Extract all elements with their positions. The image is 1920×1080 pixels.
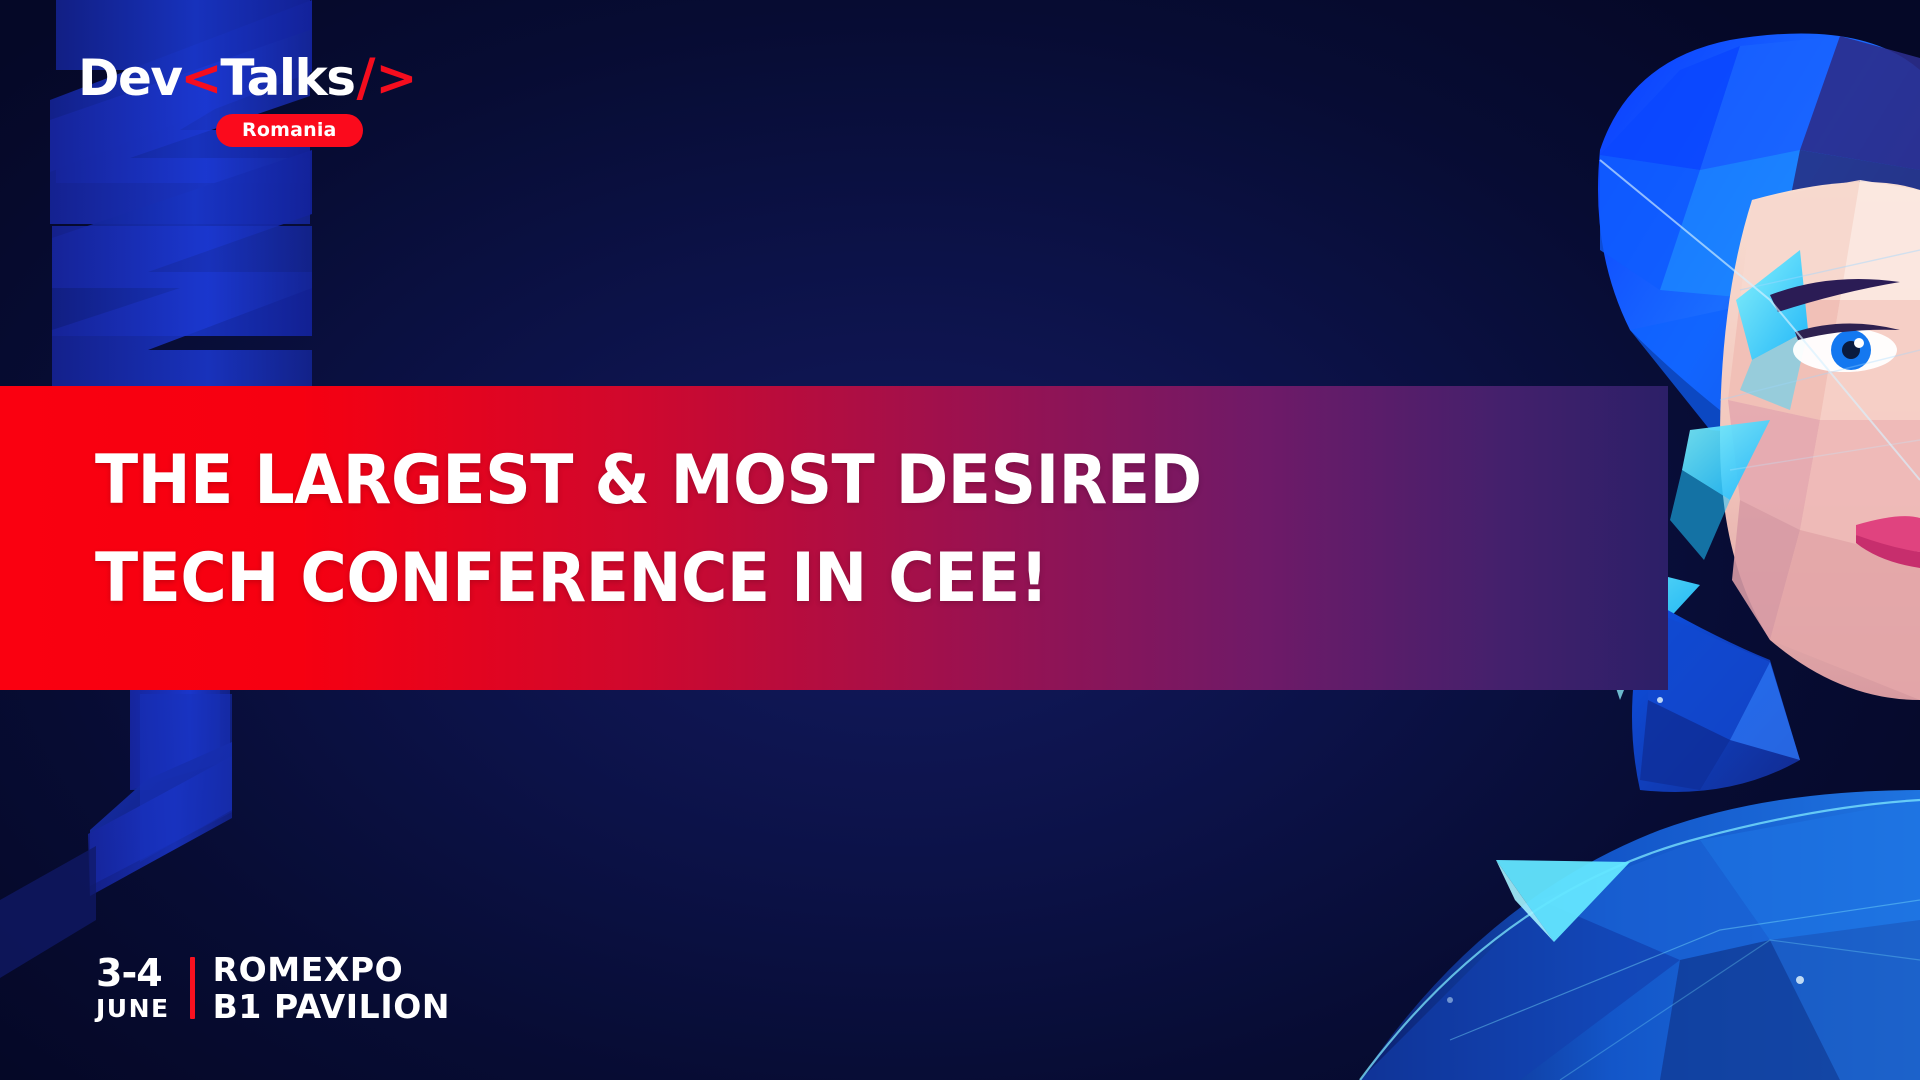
event-venue: ROMEXPO B1 PAVILION <box>213 952 450 1024</box>
event-details: 3-4 JUNE ROMEXPO B1 PAVILION <box>96 952 450 1024</box>
angle-close-icon: > <box>375 53 416 103</box>
event-date: 3-4 JUNE <box>96 954 170 1023</box>
headline-line-1: THE LARGEST & MOST DESIRED <box>95 432 1397 530</box>
devtalks-logo[interactable]: Dev < Talks / > Romania <box>78 52 408 104</box>
slash-icon: / <box>356 52 374 104</box>
event-date-days: 3-4 <box>96 954 162 992</box>
divider <box>190 957 195 1019</box>
logo-talks-text: Talks <box>220 53 354 103</box>
event-date-month: JUNE <box>96 995 170 1023</box>
angle-open-icon: < <box>181 53 222 103</box>
headline-line-2: TECH CONFERENCE IN CEE! <box>95 530 1397 628</box>
logo-wordmark: Dev < Talks / > <box>78 52 408 104</box>
logo-country-badge: Romania <box>216 114 363 147</box>
hero-banner: Dev < Talks / > Romania THE LARGEST & MO… <box>0 0 1920 1080</box>
venue-pavilion: B1 PAVILION <box>213 989 450 1024</box>
venue-name: ROMEXPO <box>213 952 404 987</box>
logo-dev-text: Dev <box>78 53 182 103</box>
hero-headline: THE LARGEST & MOST DESIRED TECH CONFEREN… <box>95 432 1397 628</box>
